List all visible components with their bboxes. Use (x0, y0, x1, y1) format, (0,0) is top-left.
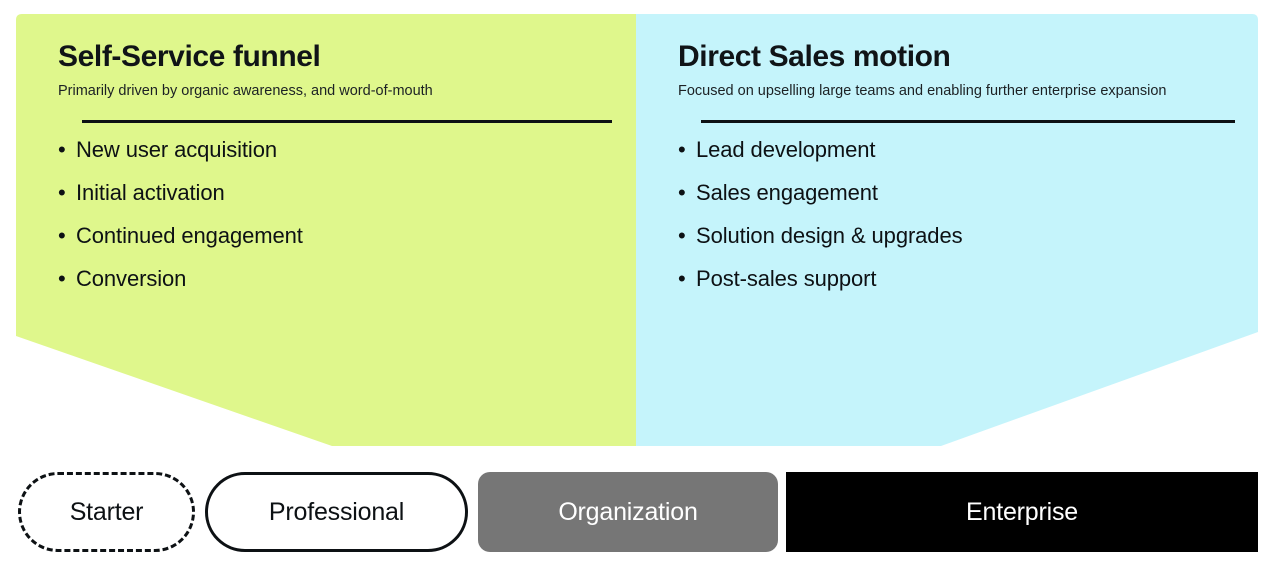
list-item-label: Initial activation (76, 180, 225, 205)
list-item-label: New user acquisition (76, 137, 277, 162)
bullet-list-self-service: • New user acquisition • Initial activat… (58, 139, 636, 290)
bullet-list-direct-sales: • Lead development • Sales engagement • … (678, 139, 1258, 290)
bullet-dot-icon: • (58, 182, 66, 204)
bullet-dot-icon: • (678, 182, 686, 204)
tier-starter-label: Starter (70, 498, 144, 527)
tier-organization-label: Organization (558, 498, 697, 527)
bullet-dot-icon: • (58, 268, 66, 290)
funnel-diagram: Self-Service funnel Primarily driven by … (0, 0, 1270, 570)
bullet-dot-icon: • (678, 225, 686, 247)
panel-subtitle-direct-sales: Focused on upselling large teams and ena… (678, 81, 1218, 102)
tier-professional-label: Professional (269, 498, 404, 527)
tier-enterprise-label: Enterprise (966, 498, 1078, 527)
bullet-dot-icon: • (58, 225, 66, 247)
tier-starter[interactable]: Starter (18, 472, 195, 552)
bullet-dot-icon: • (58, 139, 66, 161)
tier-professional[interactable]: Professional (205, 472, 468, 552)
list-item: • Sales engagement (678, 182, 1258, 204)
list-item-label: Lead development (696, 137, 875, 162)
panel-title-direct-sales: Direct Sales motion (678, 40, 1258, 73)
panel-title-self-service: Self-Service funnel (58, 40, 636, 73)
list-item: • Continued engagement (58, 225, 636, 247)
bullet-dot-icon: • (678, 268, 686, 290)
tier-row: Starter Professional Organization Enterp… (0, 470, 1270, 570)
list-item: • New user acquisition (58, 139, 636, 161)
panel-divider-self-service (82, 120, 612, 123)
panel-subtitle-self-service: Primarily driven by organic awareness, a… (58, 81, 598, 102)
list-item-label: Continued engagement (76, 223, 303, 248)
list-item-label: Solution design & upgrades (696, 223, 962, 248)
panel-divider-direct-sales (701, 120, 1235, 123)
panel-direct-sales: Direct Sales motion Focused on upselling… (636, 14, 1258, 311)
list-item: • Solution design & upgrades (678, 225, 1258, 247)
list-item: • Conversion (58, 268, 636, 290)
list-item-label: Post-sales support (696, 266, 876, 291)
list-item: • Lead development (678, 139, 1258, 161)
panel-self-service: Self-Service funnel Primarily driven by … (16, 14, 636, 311)
list-item-label: Conversion (76, 266, 186, 291)
tier-organization[interactable]: Organization (478, 472, 778, 552)
list-item-label: Sales engagement (696, 180, 878, 205)
bullet-dot-icon: • (678, 139, 686, 161)
tier-enterprise[interactable]: Enterprise (786, 472, 1258, 552)
list-item: • Initial activation (58, 182, 636, 204)
list-item: • Post-sales support (678, 268, 1258, 290)
